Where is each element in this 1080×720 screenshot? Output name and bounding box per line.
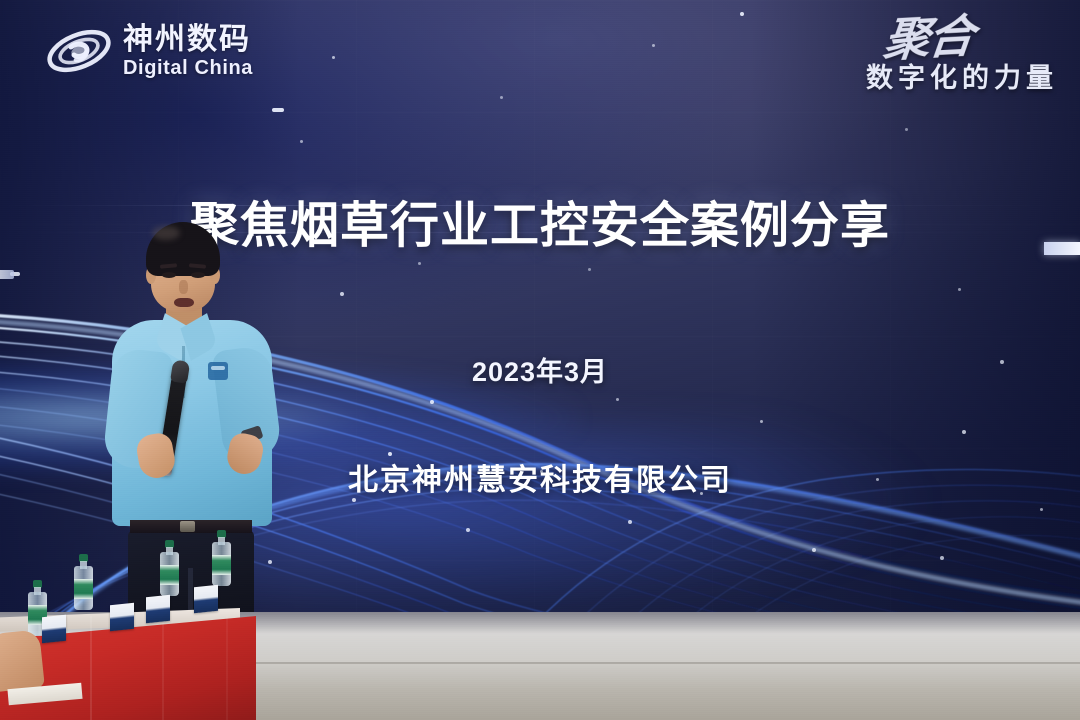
presenter-eye-right [191, 272, 205, 278]
bottle-label [160, 565, 179, 585]
microphone-head [170, 359, 190, 383]
presenter-eye-left [162, 272, 176, 278]
streak-glow-secondary [180, 420, 940, 620]
slogan-subtitle: 数字化的力量 [866, 56, 1058, 95]
presenter-belt-buckle [180, 521, 195, 532]
presenter-hair [146, 222, 220, 276]
brand-logo: 神州数码 Digital China [44, 22, 253, 80]
water-bottle [74, 554, 93, 610]
water-bottle [160, 540, 179, 596]
name-card [42, 615, 66, 644]
tablecloth-fold [162, 616, 164, 720]
tablecloth-fold [226, 616, 228, 720]
name-card [194, 585, 218, 614]
seated-attendee-hands [0, 629, 45, 693]
swirl-galaxy-icon [44, 22, 114, 80]
brand-name-en: Digital China [123, 58, 253, 78]
presenter-nose [179, 280, 188, 294]
event-slogan: 聚合 数字化的力量 [866, 18, 1058, 95]
name-card [110, 603, 134, 632]
bottle-label [212, 555, 231, 575]
presenter [96, 222, 286, 622]
brand-wordmark: 神州数码 Digital China [123, 25, 253, 78]
water-bottle [212, 530, 231, 586]
stage-photo: 神州数码 Digital China 聚合 数字化的力量 聚焦烟草行业工控安全案… [0, 0, 1080, 720]
bottle-label [74, 579, 93, 599]
screen-edge-light-left [0, 270, 14, 279]
presenter-mouth [174, 298, 194, 307]
tablecloth-fold [90, 616, 92, 720]
name-card [146, 595, 170, 624]
screen-edge-light [1044, 242, 1080, 255]
brand-name-cn: 神州数码 [123, 25, 253, 55]
shirt-logo-icon [208, 362, 228, 380]
